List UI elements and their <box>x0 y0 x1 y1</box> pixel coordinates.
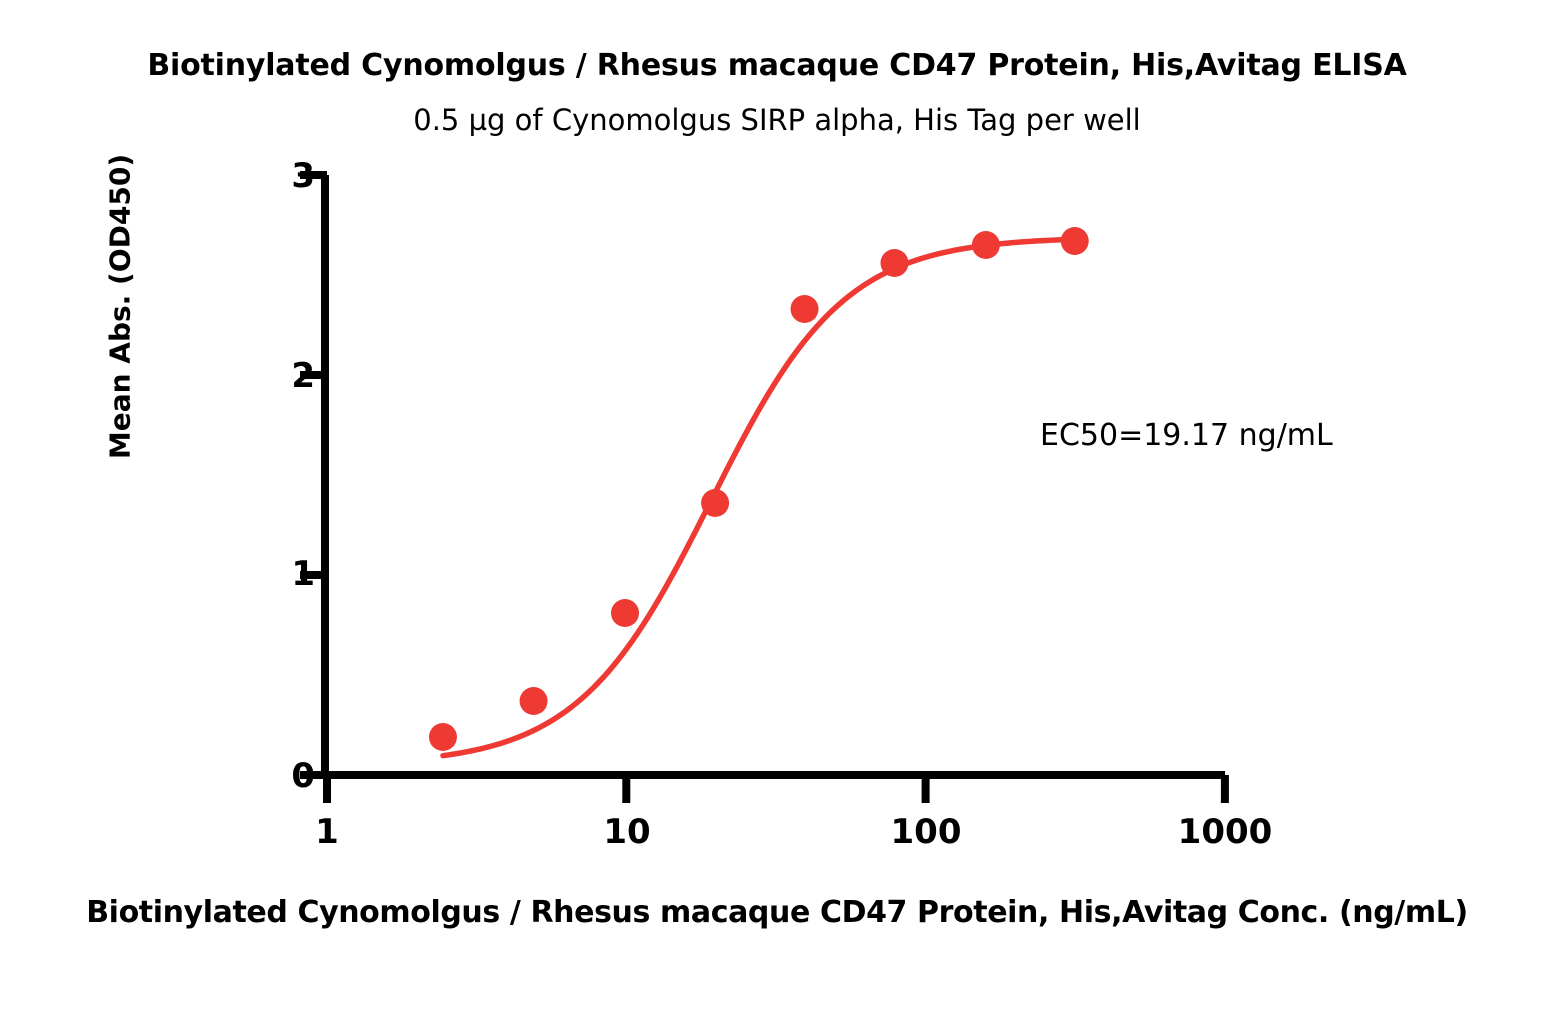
elisa-chart-figure: Biotinylated Cynomolgus / Rhesus macaque… <box>0 0 1554 1032</box>
data-point <box>520 687 548 715</box>
axis-spines <box>321 175 1225 779</box>
data-point <box>1061 227 1089 255</box>
fit-curve <box>443 239 1075 755</box>
x-axis-ticks <box>327 775 1225 803</box>
plot-area <box>0 0 1554 1032</box>
data-point <box>611 599 639 627</box>
data-point <box>791 295 819 323</box>
data-point <box>701 489 729 517</box>
data-point <box>429 723 457 751</box>
data-point <box>972 231 1000 259</box>
data-point <box>880 249 908 277</box>
data-point-markers <box>429 227 1089 751</box>
